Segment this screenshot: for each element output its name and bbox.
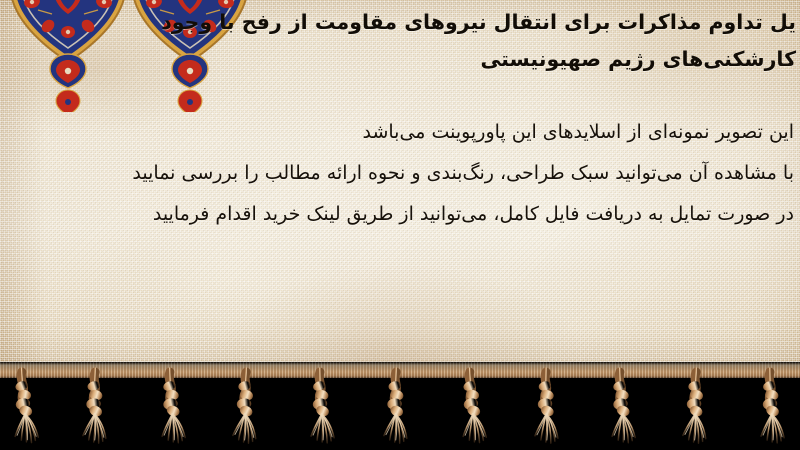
- slide-canvas: یل تداوم مذاکرات برای انتقال نیروهای مقا…: [0, 0, 800, 450]
- carpet-fringe-band: [0, 362, 800, 450]
- body-line-3: در صورت تمایل به دریافت فایل کامل، می‌تو…: [6, 194, 794, 235]
- fringe-tassels-svg: [0, 362, 800, 450]
- body-line-1: این تصویر نمونه‌ای از اسلایدهای این پاور…: [6, 112, 794, 153]
- body-text: این تصویر نمونه‌ای از اسلایدهای این پاور…: [6, 112, 794, 235]
- body-line-2: با مشاهده آن می‌توانید سبک طراحی، رنگ‌بن…: [6, 153, 794, 194]
- headline-line-2: کارشکنی‌های رژیم صهیونیستی: [4, 41, 796, 78]
- headline-line-1: یل تداوم مذاکرات برای انتقال نیروهای مقا…: [4, 4, 796, 41]
- headline: یل تداوم مذاکرات برای انتقال نیروهای مقا…: [4, 4, 796, 78]
- tassel-row: [12, 371, 784, 443]
